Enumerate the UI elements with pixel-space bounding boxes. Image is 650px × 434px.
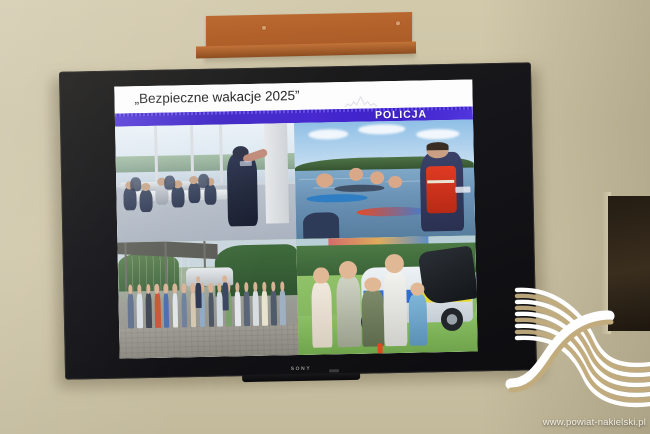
- wall-mounted-television: SONY „Bezpieczne wakacje 2025” POLICJA: [59, 62, 537, 379]
- dark-doorway-recess: [608, 196, 650, 331]
- website-url-watermark: www.powiat-nakielski.pl: [543, 417, 646, 428]
- photo-top-left: [115, 123, 296, 243]
- wooden-wall-shelf: [196, 14, 418, 64]
- shelf-screw: [262, 26, 266, 30]
- policja-label: POLICJA: [375, 108, 427, 121]
- tv-ir-sensor: [329, 369, 339, 372]
- slide-photo-grid: [115, 119, 478, 358]
- room-background: SONY „Bezpieczne wakacje 2025” POLICJA: [0, 0, 650, 434]
- presentation-slide: „Bezpieczne wakacje 2025” POLICJA: [114, 79, 477, 358]
- shelf-screw: [396, 21, 400, 25]
- photo-top-right: [294, 119, 475, 239]
- slide-title: „Bezpieczne wakacje 2025”: [134, 88, 299, 106]
- tv-screen: „Bezpieczne wakacje 2025” POLICJA: [114, 79, 477, 358]
- tv-brand-label: SONY: [291, 366, 312, 372]
- photo-bottom-right: [296, 235, 477, 355]
- police-star-icon: [342, 93, 378, 108]
- photo-bottom-left: [117, 239, 298, 359]
